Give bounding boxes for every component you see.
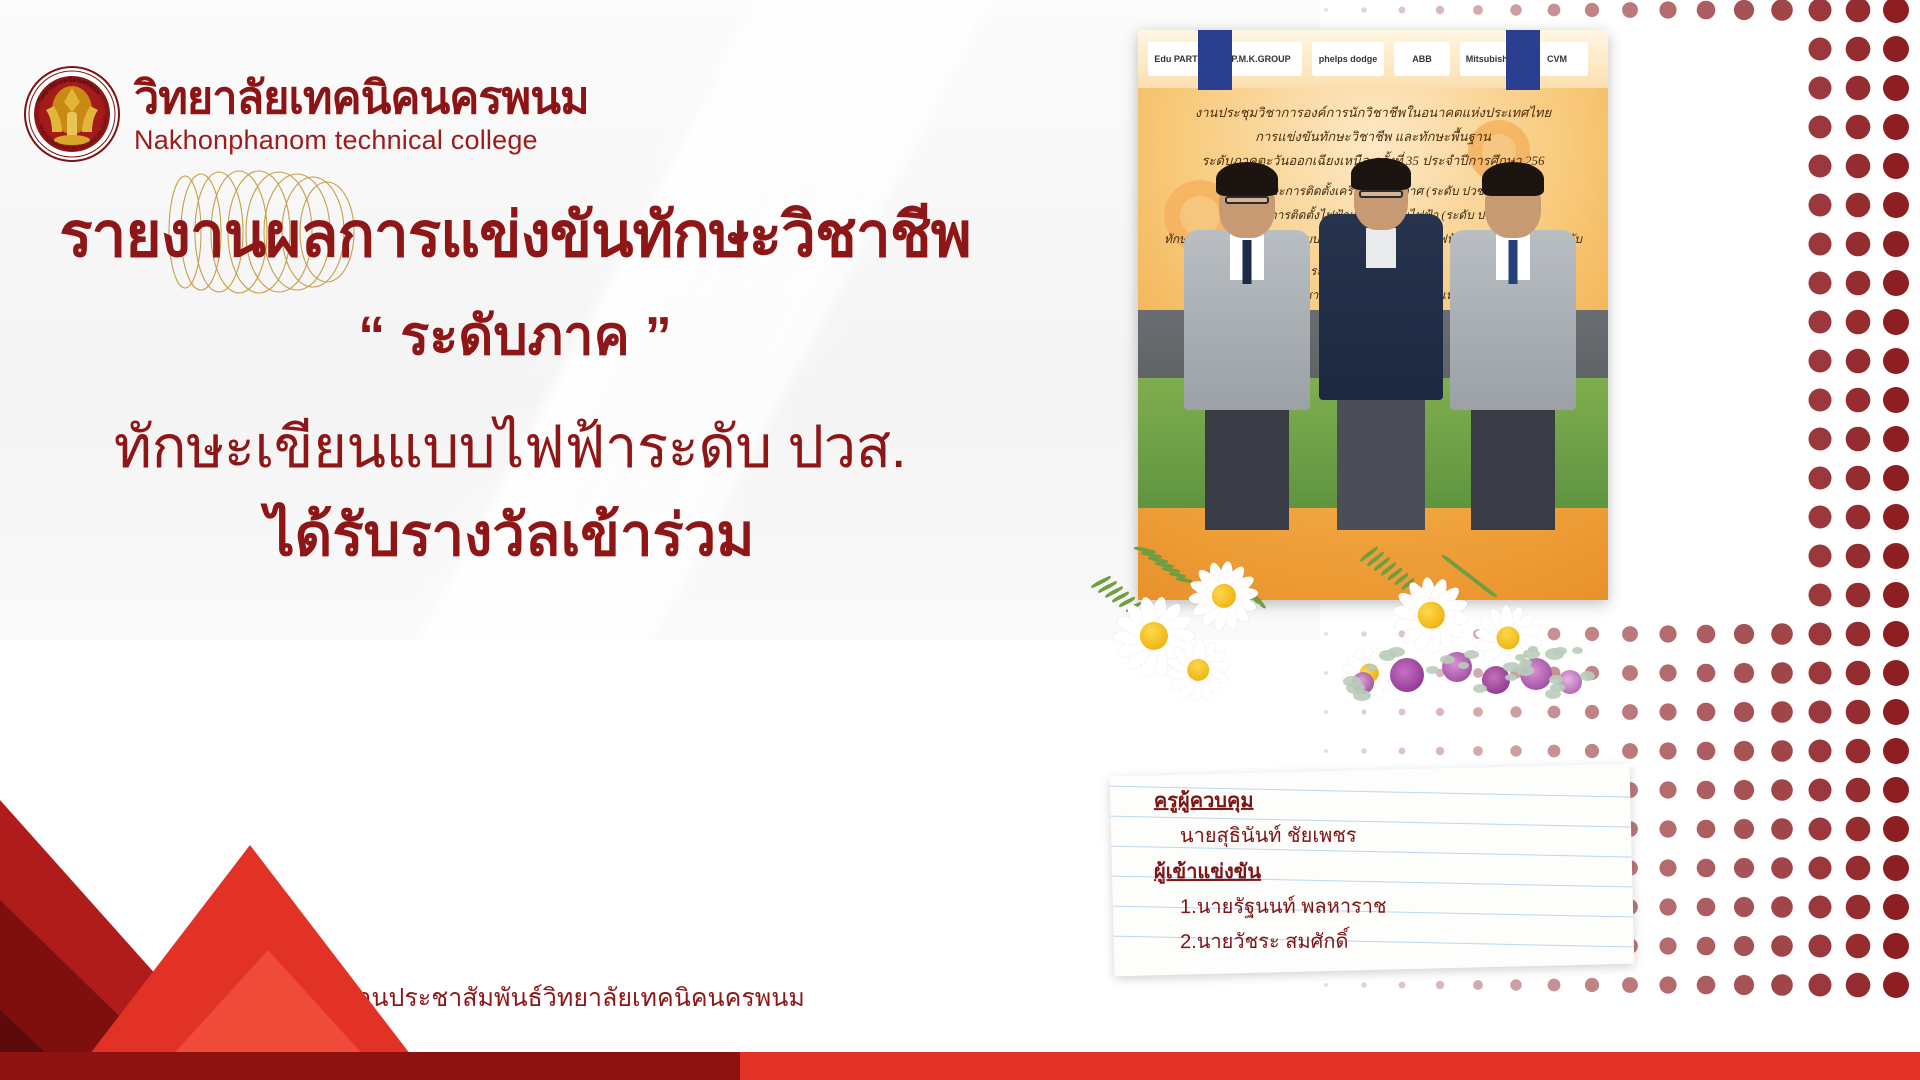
title-line-3: ทักษะเขียนแบบไฟฟ้าระดับ ปวส.	[0, 400, 1020, 493]
title-block: รายงานผลการแข่งขันทักษะวิชาชีพ “ ระดับภา…	[0, 186, 1030, 378]
ribbon-left-decoration	[1198, 30, 1232, 90]
college-name-thai: วิทยาลัยเทคนิคนครพนม	[134, 75, 589, 120]
participants-list: ครูผู้ควบคุม นายสุธินันท์ ชัยเพชร ผู้เข้…	[1154, 779, 1614, 957]
sponsor-logo-phelps-dodge: phelps dodge	[1312, 42, 1384, 76]
title-line-2: “ ระดับภาค ”	[0, 292, 1030, 378]
footer-credit: งานประชาสัมพันธ์วิทยาลัยเทคนิคนครพนม	[0, 978, 1150, 1018]
student-left	[1172, 130, 1322, 530]
college-header: วิทยาลัยเทคนิคนครพนม NAKHON PHANOM TECHN…	[24, 66, 589, 162]
college-name-block: วิทยาลัยเทคนิคนครพนม Nakhonphanom techni…	[134, 75, 589, 154]
college-name-english: Nakhonphanom technical college	[134, 127, 589, 154]
college-seal-icon: วิทยาลัยเทคนิคนครพนม NAKHON PHANOM TECHN…	[24, 66, 120, 162]
title-line-1: รายงานผลการแข่งขันทักษะวิชาชีพ	[0, 186, 1030, 284]
student-center	[1306, 120, 1456, 530]
competitor-name-1: 1.นายรัฐนนท์ พลหาราช	[1180, 889, 1614, 922]
sponsor-logo-abb: ABB	[1394, 42, 1450, 76]
participants-note-card: ครูผู้ควบคุม นายสุธินันท์ ชัยเพชร ผู้เข้…	[1110, 764, 1635, 977]
competitors-header: ผู้เข้าแข่งขัน	[1154, 854, 1614, 887]
supervisor-header: ครูผู้ควบคุม	[1154, 783, 1614, 816]
competitor-name-2: 2.นายวัชระ สมศักดิ์	[1180, 924, 1614, 957]
ribbon-right-decoration	[1506, 30, 1540, 90]
bottom-accent-bar-dark	[0, 1052, 740, 1080]
poster-canvas: วิทยาลัยเทคนิคนครพนม NAKHON PHANOM TECHN…	[0, 0, 1920, 1080]
title-line-4: ได้รับรางวัลเข้าร่วม	[0, 488, 1020, 581]
supervisor-name: นายสุธินันท์ ชัยเพชร	[1180, 818, 1614, 851]
event-photo: Edu PARTS P.M.K.GROUP phelps dodge ABB M…	[1138, 30, 1608, 600]
sponsor-logo-pmk-group: P.M.K.GROUP	[1220, 42, 1302, 76]
student-right	[1438, 130, 1588, 530]
